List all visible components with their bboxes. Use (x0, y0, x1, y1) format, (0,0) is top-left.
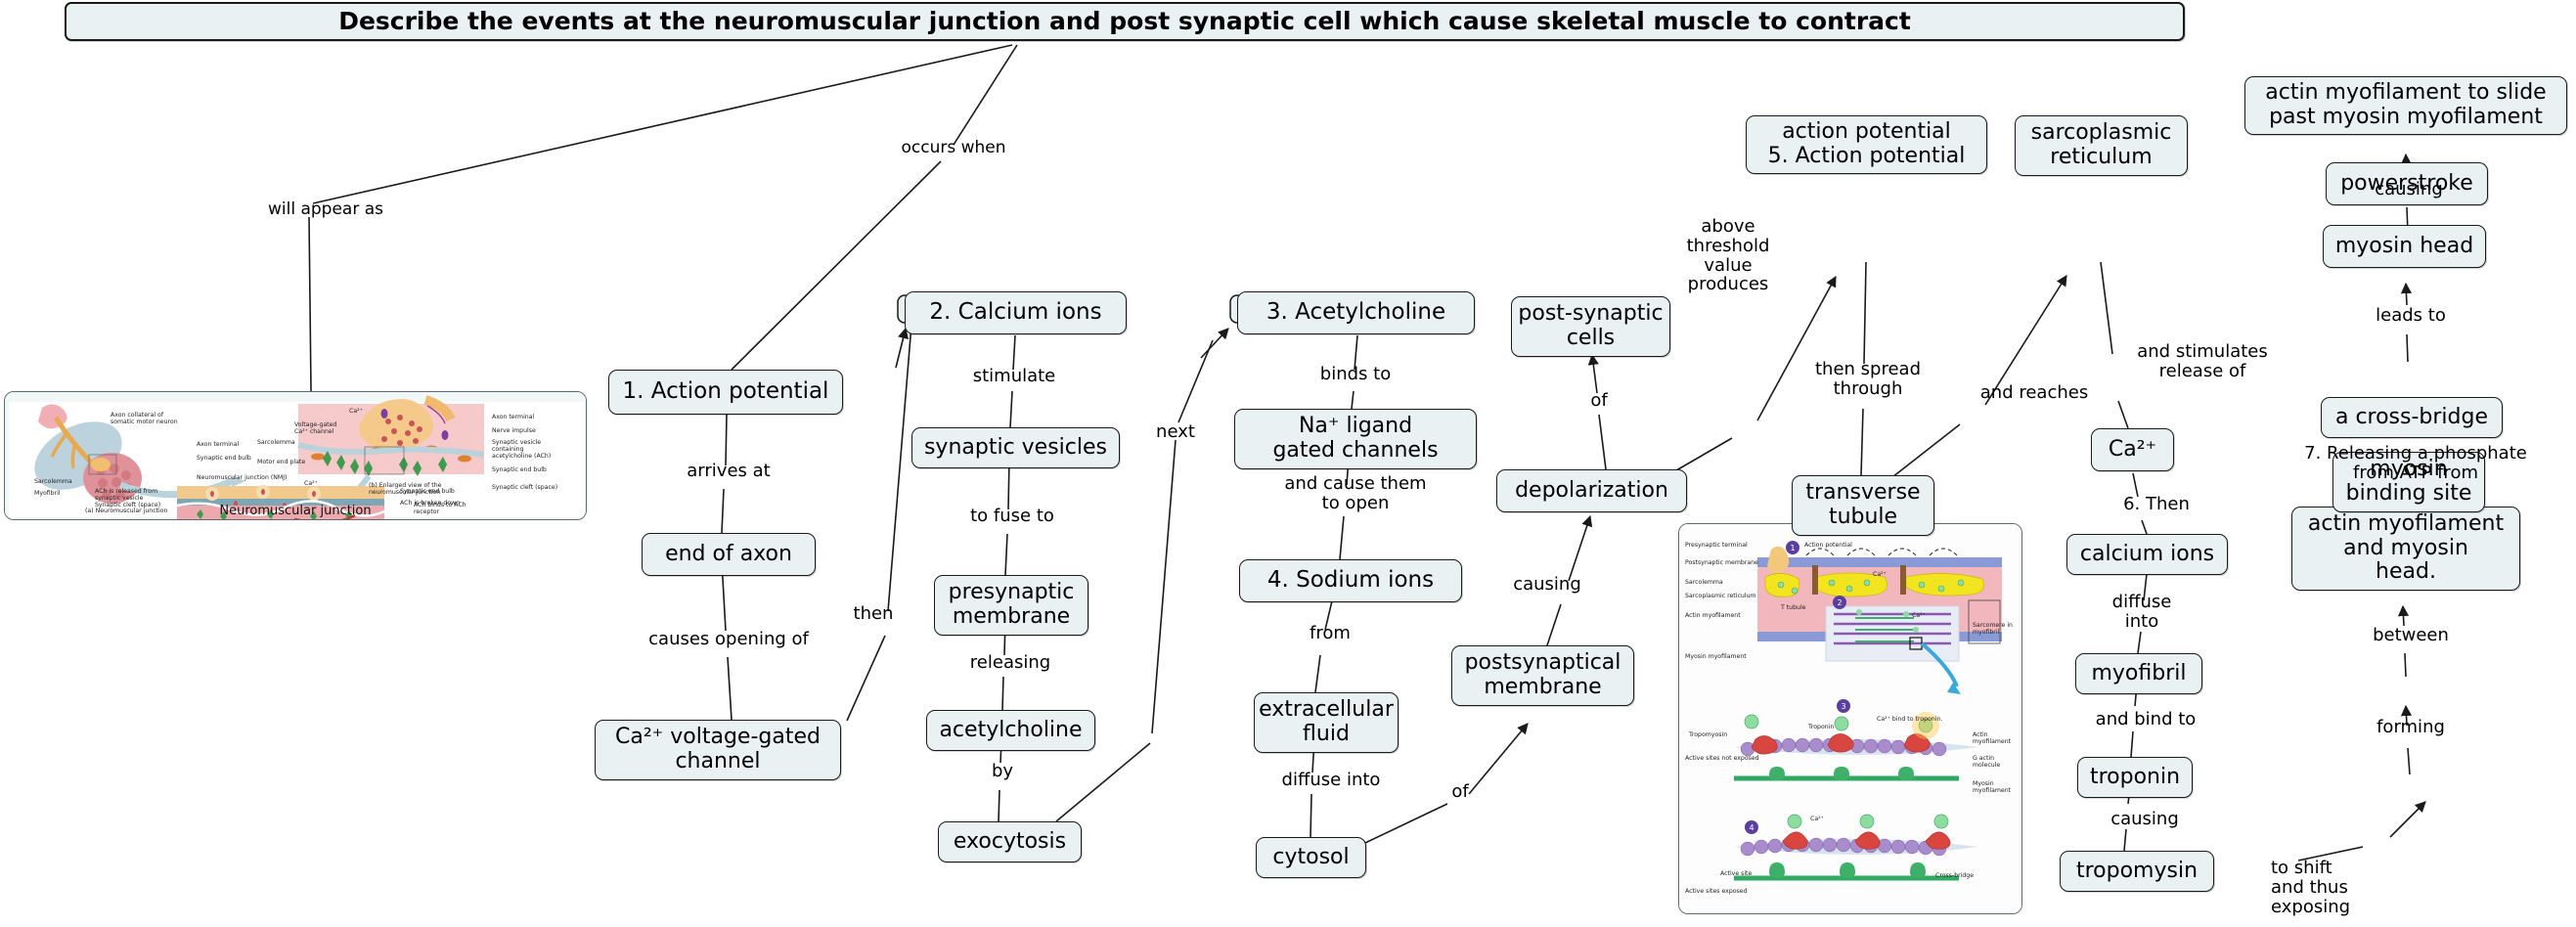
sarco-label-ca-top: Ca²⁺ (1873, 571, 1887, 578)
node-na-ligand-gated-channels[interactable]: Na⁺ ligand gated channels (1234, 409, 1477, 469)
link-label-of-cytosol: of (1436, 782, 1485, 802)
node-action-potential-1[interactable]: 1. Action potential (608, 370, 843, 415)
sarco-label-cross-bridge: Cross-bridge (1935, 872, 1974, 879)
nmj-figure-caption: Neuromuscular junction (5, 504, 586, 518)
svg-text:4: 4 (1749, 823, 1754, 832)
link-label-arrives-at: arrives at (645, 462, 812, 481)
node-post-synaptic-cells[interactable]: post-synaptic cells (1511, 296, 1670, 357)
node-action-potential-5[interactable]: action potential 5. Action potential (1746, 115, 1987, 174)
nmj-label-synaptic-vesicle: Synaptic vesicle containing acetylcholin… (492, 439, 553, 460)
nmj-label-motor-end-plate-b: Motor end plate (257, 459, 305, 465)
node-depolarization[interactable]: depolarization (1496, 469, 1687, 512)
svg-text:1: 1 (1790, 544, 1795, 552)
link-label-diffuse-into: diffuse into (1248, 771, 1414, 790)
link-label-then: then (833, 604, 913, 624)
link-label-causing-depolarization: causing (1479, 575, 1616, 595)
node-synaptic-vesicles[interactable]: synaptic vesicles (911, 427, 1120, 468)
link-label-diffuse-into-myofibril: diffuse into (2083, 593, 2200, 632)
link-label-and-stimulates-release-of: and stimulates release of (2105, 342, 2300, 381)
link-label-binds-to: binds to (1273, 365, 1438, 384)
node-postsynaptical-membrane[interactable]: postsynaptical membrane (1451, 645, 1634, 706)
node-troponin[interactable]: troponin (2077, 757, 2193, 798)
link-label-and-cause-them-to-open: and cause them to open (1262, 474, 1449, 513)
node-calcium-ions[interactable]: calcium ions (2066, 534, 2228, 575)
sarco-label-t-tubule: T tubule (1781, 604, 1805, 611)
sarco-label-myosin-myofilament: Myosin myofilament (1685, 653, 1747, 660)
sarco-label-ca-bind-troponin: Ca²⁺ bind to troponin. (1877, 716, 1942, 723)
nmj-label-synaptic-end-bulb-b: Synaptic end bulb (492, 466, 547, 473)
node-actin-slide-past-myosin[interactable]: actin myofilament to slide past myosin m… (2244, 76, 2567, 135)
link-label-stimulate: stimulate (931, 367, 1097, 386)
sarco-label-presynaptic-terminal: Presynaptic terminal (1685, 542, 1748, 549)
svg-text:3: 3 (1841, 702, 1845, 711)
link-label-between: between (2347, 626, 2474, 645)
node-cytosol[interactable]: cytosol (1256, 837, 1366, 878)
link-label-of-postsynaptic: of (1575, 391, 1623, 411)
link-label-forming: forming (2347, 718, 2474, 737)
node-ca-ion[interactable]: Ca²⁺ (2091, 428, 2174, 471)
node-transverse-tubule[interactable]: transverse tubule (1792, 475, 1934, 536)
sarco-label-ca-panel4: Ca²⁺ (1810, 816, 1824, 822)
neuromuscular-junction-figure: Axon collateral of somatic motor neuron … (4, 391, 587, 520)
nmj-label-axon-terminal-b: Axon terminal (492, 414, 534, 420)
sarco-label-active-sites-exposed: Active sites exposed (1685, 888, 1748, 895)
sarco-label-tropomyosin: Tropomyosin (1689, 731, 1727, 738)
sarcomere-illustration: 12 34 (1679, 524, 2022, 914)
nmj-label-synaptic-end-bulb-a: Synaptic end bulb (197, 455, 251, 462)
node-acetylcholine[interactable]: acetylcholine (926, 710, 1095, 751)
sarco-label-troponin: Troponin (1808, 724, 1834, 730)
node-sodium-ions-4[interactable]: 4. Sodium ions (1239, 559, 1462, 602)
link-label-releasing: releasing (927, 653, 1093, 673)
link-label-7-releasing-phosphate: 7. Releasing a phosphate from ATP from (2274, 444, 2557, 483)
link-label-to-shift-and-thus-exposing: to shift and thus exposing (2271, 859, 2418, 916)
link-label-causing-tropomysin: causing (2081, 810, 2208, 829)
svg-text:2: 2 (1837, 598, 1842, 607)
link-label-leads-to: leads to (2347, 306, 2474, 326)
nmj-label-voltage-gated-ca-channel: Voltage-gated Ca²⁺ channel (294, 421, 343, 435)
sarco-label-active-sites-not-exposed: Active sites not exposed (1685, 755, 1759, 762)
sarco-label-sarcoplasmic-reticulum: Sarcoplasmic reticulum (1685, 593, 1755, 599)
excitation-contraction-figure: 12 34 Presynaptic terminal Postsynaptic … (1678, 523, 2022, 914)
node-extracellular-fluid[interactable]: extracellular fluid (1254, 692, 1399, 753)
sarco-label-myosin-myofilament-2: Myosin myofilament (1973, 780, 2021, 794)
node-ca-voltage-gated-channel[interactable]: Ca²⁺ voltage-gated channel (595, 720, 841, 780)
link-label-to-fuse-to: to fuse to (929, 507, 1095, 526)
sarco-label-actin-myofilament-2: Actin myofilament (1973, 731, 2021, 745)
nmj-label-axon-terminal-a: Axon terminal (197, 441, 239, 448)
sarco-label-ca-inset: Ca²⁺ (1912, 612, 1926, 619)
nmj-label-sarcolemma-b: Sarcolemma (257, 439, 295, 446)
sarco-label-sarcolemma: Sarcolemma (1685, 579, 1723, 586)
sarco-label-actin-myofilament: Actin myofilament (1685, 612, 1741, 619)
link-label-above-threshold-produces: above threshold value produces (1669, 217, 1787, 294)
nmj-label-axon-collateral: Axon collateral of somatic motor neuron (111, 412, 189, 425)
sarco-label-postsynaptic-membrane: Postsynaptic membrane (1685, 559, 1758, 566)
node-acetylcholine-3[interactable]: 3. Acetylcholine (1237, 291, 1475, 334)
link-label-and-bind-to: and bind to (2075, 710, 2216, 729)
nmj-label-ca-c: Ca²⁺ (304, 480, 318, 487)
node-cross-bridge[interactable]: a cross-bridge (2321, 397, 2503, 438)
node-myosin-head[interactable]: myosin head (2323, 225, 2486, 268)
link-label-will-appear-as: will appear as (243, 200, 409, 219)
link-label-then-spread-through: then spread through (1780, 360, 1956, 399)
sarco-label-sarcomere: Sarcomere in myofibril (1973, 622, 2021, 636)
link-label-next: next (1136, 422, 1215, 442)
node-myofibril[interactable]: myofibril (2075, 653, 2202, 694)
link-label-6-then: 6. Then (2088, 495, 2225, 514)
node-exocytosis[interactable]: exocytosis (938, 821, 1082, 862)
sarco-label-action-potential: Action potential (1804, 542, 1852, 549)
nmj-label-nmj: Neuromuscular junction (NMJ) (197, 474, 287, 481)
nmj-label-nerve-impulse: Nerve impulse (492, 427, 536, 434)
link-label-causes-opening-of: causes opening of (626, 630, 831, 649)
link-label-from: from (1262, 624, 1399, 643)
nmj-label-myofibril: Myofibril (34, 490, 61, 497)
nmj-label-synaptic-end-bulb-c: Synaptic end bulb (400, 488, 455, 495)
link-label-by: by (934, 762, 1071, 781)
nmj-label-synaptic-cleft-b: Synaptic cleft (space) (492, 484, 557, 491)
sarco-label-active-site: Active site (1720, 870, 1752, 877)
link-label-and-reaches: and reaches (1948, 383, 2120, 403)
node-end-of-axon[interactable]: end of axon (642, 533, 816, 576)
page-title: Describe the events at the neuromuscular… (65, 2, 2185, 41)
sarco-label-g-actin: G actin molecule (1973, 755, 2021, 769)
node-tropomysin[interactable]: tropomysin (2060, 851, 2214, 892)
link-label-causing-actin-slide: causing (2345, 180, 2472, 199)
nmj-label-ach-released: ACh is released from synaptic vesicle (95, 488, 159, 502)
concept-map-canvas: Describe the events at the neuromuscular… (0, 0, 2576, 927)
node-actin-and-myosin-head[interactable]: actin myofilament and myosin head. (2291, 507, 2520, 591)
node-presynaptic-membrane[interactable]: presynaptic membrane (934, 575, 1088, 636)
nmj-label-sarcolemma-a: Sarcolemma (34, 478, 72, 485)
node-calcium-ions-2[interactable]: 2. Calcium ions (905, 291, 1127, 334)
node-sarcoplasmic-reticulum[interactable]: sarcoplasmic reticulum (2015, 115, 2188, 176)
nmj-label-ca-b: Ca²⁺ (349, 408, 363, 415)
link-label-occurs-when: occurs when (870, 139, 1037, 157)
